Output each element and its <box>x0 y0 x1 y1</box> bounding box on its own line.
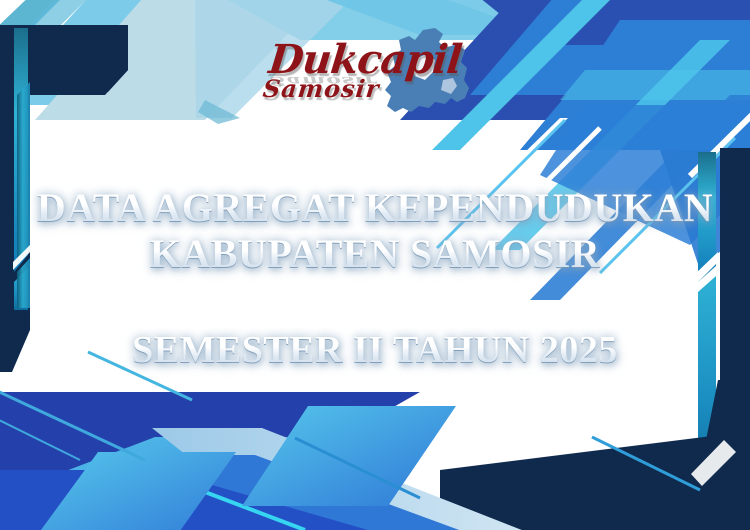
title-line-2: KABUPATEN SAMOSIR <box>35 232 715 276</box>
title-line-1: DATA AGREGAT KEPENDUDUKAN <box>35 186 715 230</box>
logo-wordmark: Dukcapil Samosir Samosir <box>255 36 475 116</box>
logo: Dukcapil Samosir Samosir <box>255 28 495 128</box>
logo-reflection-text: Samosir <box>269 74 378 88</box>
subtitle: SEMESTER II TAHUN 2025 <box>35 328 715 372</box>
presentation-slide: Dukcapil Samosir Samosir DATA AGREGAT KE… <box>0 0 750 530</box>
page-title: DATA AGREGAT KEPENDUDUKAN KABUPATEN SAMO… <box>35 186 715 276</box>
